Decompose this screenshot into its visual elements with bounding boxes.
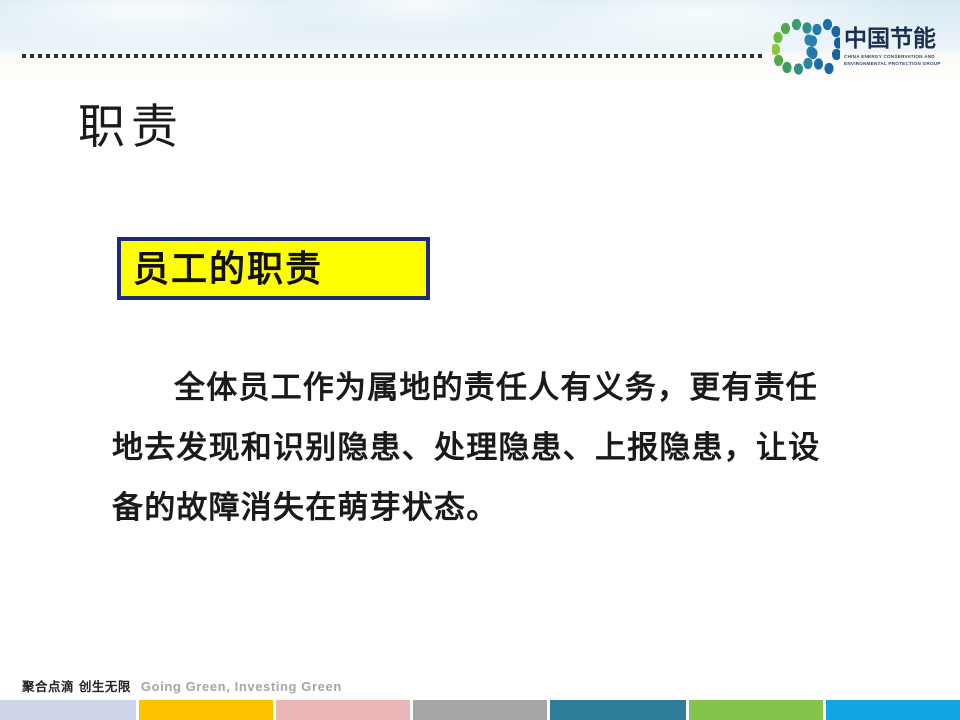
china-energy-conservation-rings-logo-icon xyxy=(772,18,840,76)
body-line-1: 全体员工作为属地的责任人有义务，更有责任 xyxy=(112,358,852,418)
brand-name-english: CHINA ENERGY CONSERVATION AND ENVIRONMEN… xyxy=(844,54,952,67)
color-bar-segment-teal xyxy=(550,700,686,720)
color-bar-segment-gray xyxy=(413,700,547,720)
color-bar-segment-rose xyxy=(276,700,410,720)
page-title: 职责 xyxy=(78,100,184,156)
footer-tagline-chinese: 聚合点滴 创生无限 xyxy=(22,676,131,695)
brand-name-chinese: 中国节能 xyxy=(844,27,952,51)
header-dotted-divider xyxy=(22,54,766,58)
color-bar-segment-amber xyxy=(139,700,273,720)
footer-color-bar xyxy=(0,700,960,720)
highlight-callout-box: 员工的职责 xyxy=(117,237,430,300)
brand-logo-text: 中国节能 CHINA ENERGY CONSERVATION AND ENVIR… xyxy=(844,27,952,67)
color-bar-segment-periwinkle xyxy=(0,700,136,720)
body-paragraph: 全体员工作为属地的责任人有义务，更有责任 地去发现和识别隐患、处理隐患、上报隐患… xyxy=(112,358,852,538)
color-bar-segment-cyan xyxy=(826,700,960,720)
body-line-3: 备的故障消失在萌芽状态。 xyxy=(112,478,852,538)
slide-canvas: 中国节能 CHINA ENERGY CONSERVATION AND ENVIR… xyxy=(0,0,960,720)
footer-tagline: 聚合点滴 创生无限 Going Green, Investing Green xyxy=(22,676,342,695)
color-bar-segment-green xyxy=(689,700,823,720)
callout-label: 员工的职责 xyxy=(121,251,323,287)
brand-logo: 中国节能 CHINA ENERGY CONSERVATION AND ENVIR… xyxy=(772,16,952,78)
footer-tagline-english: Going Green, Investing Green xyxy=(141,679,342,694)
body-line-2: 地去发现和识别隐患、处理隐患、上报隐患，让设 xyxy=(112,418,852,478)
